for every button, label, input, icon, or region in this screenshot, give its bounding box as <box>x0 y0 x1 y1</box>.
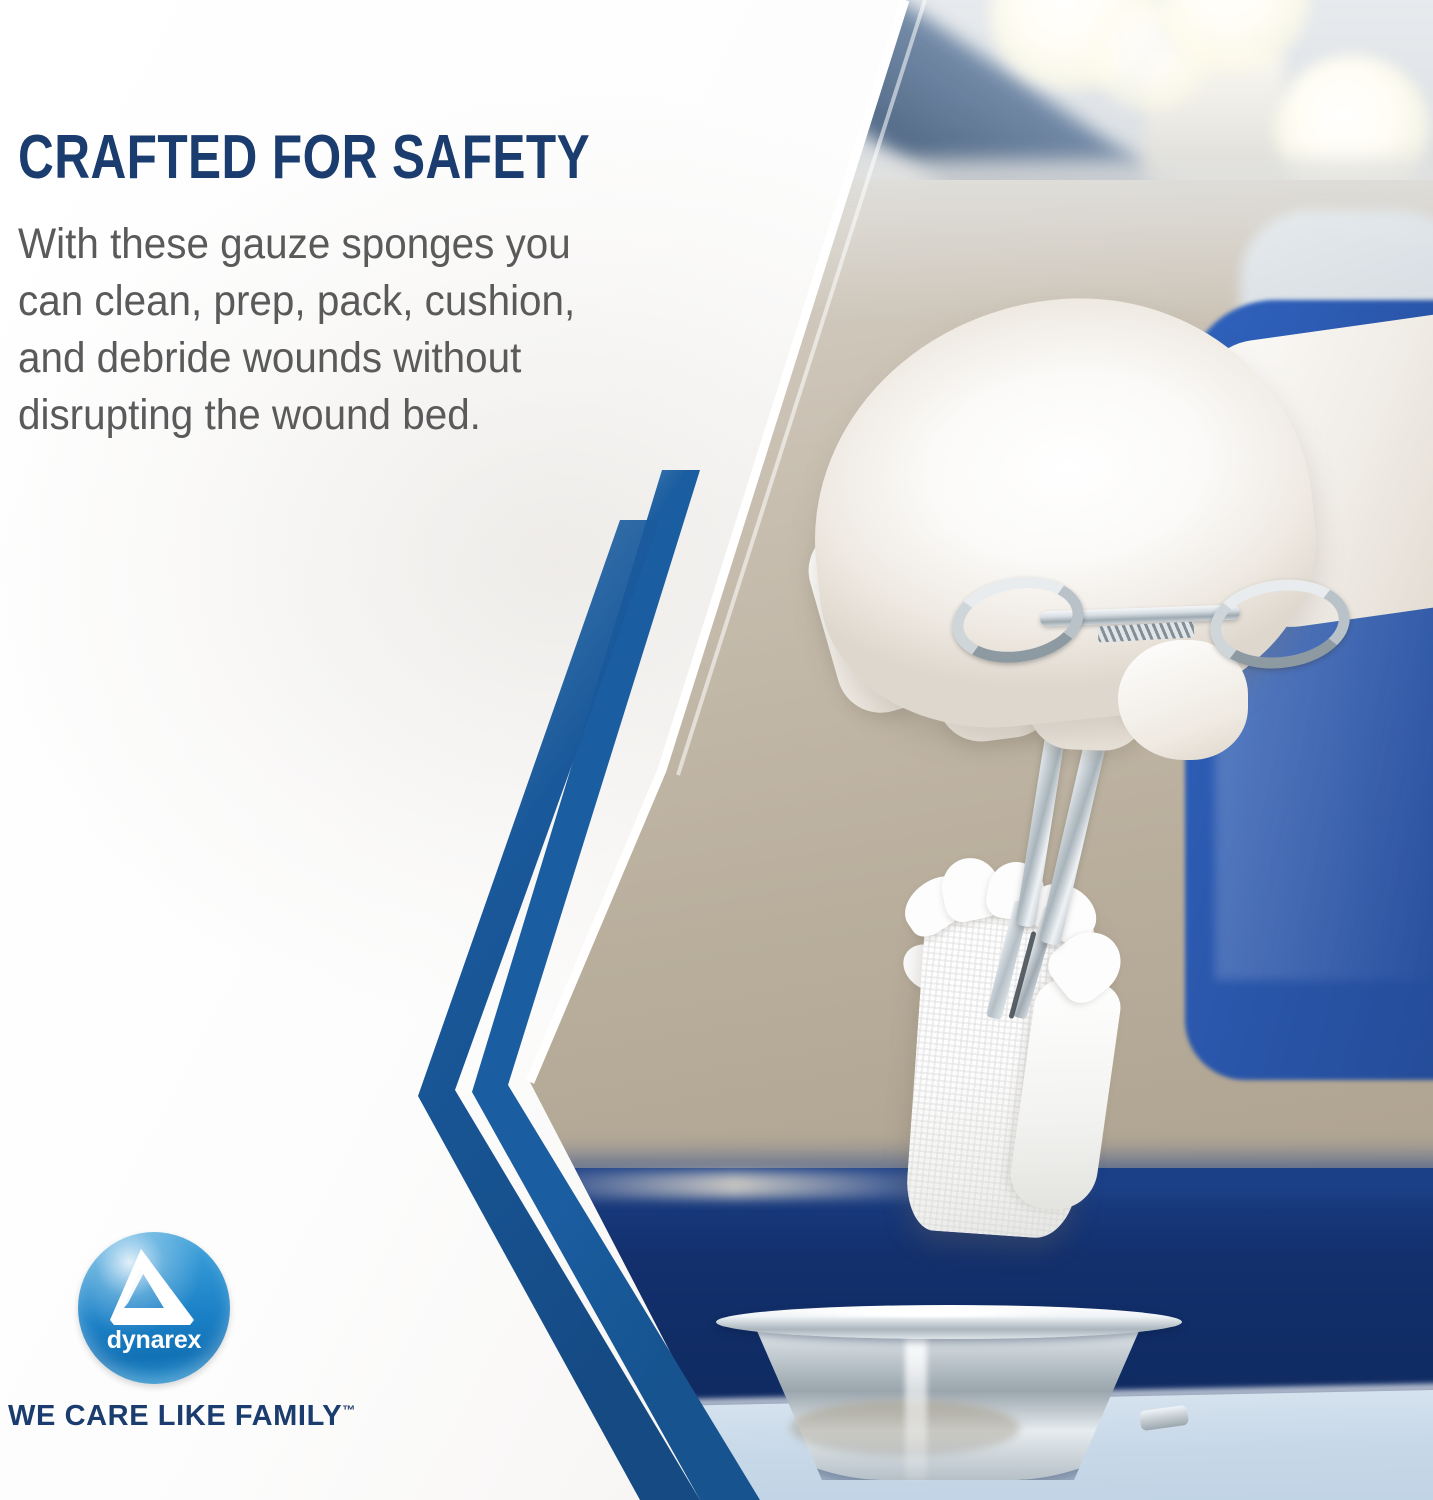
body-copy: With these gauze sponges you can clean, … <box>18 216 714 444</box>
tagline-text: WE CARE LIKE FAMILY <box>8 1400 342 1432</box>
body-line: can clean, prep, pack, cushion, <box>18 273 714 330</box>
brand-logo: dynarex WE CARE LIKE FAMILY™ <box>78 1232 378 1447</box>
promo-banner: CRAFTED FOR SAFETY With these gauze spon… <box>0 0 1433 1500</box>
logo-wordmark: dynarex <box>78 1326 230 1355</box>
bowl-rim-highlight <box>760 1308 1090 1317</box>
brand-tagline: WE CARE LIKE FAMILY™ <box>8 1400 388 1433</box>
bowl-gloss <box>905 1330 927 1480</box>
body-line: and debride wounds without <box>18 330 714 387</box>
dynarex-triangle-icon <box>78 1232 230 1384</box>
page-title: CRAFTED FOR SAFETY <box>18 126 610 190</box>
copy-block: CRAFTED FOR SAFETY With these gauze spon… <box>18 126 758 444</box>
trademark-symbol: ™ <box>342 1402 356 1417</box>
body-line: disrupting the wound bed. <box>18 387 714 444</box>
body-line: With these gauze sponges you <box>18 216 714 273</box>
